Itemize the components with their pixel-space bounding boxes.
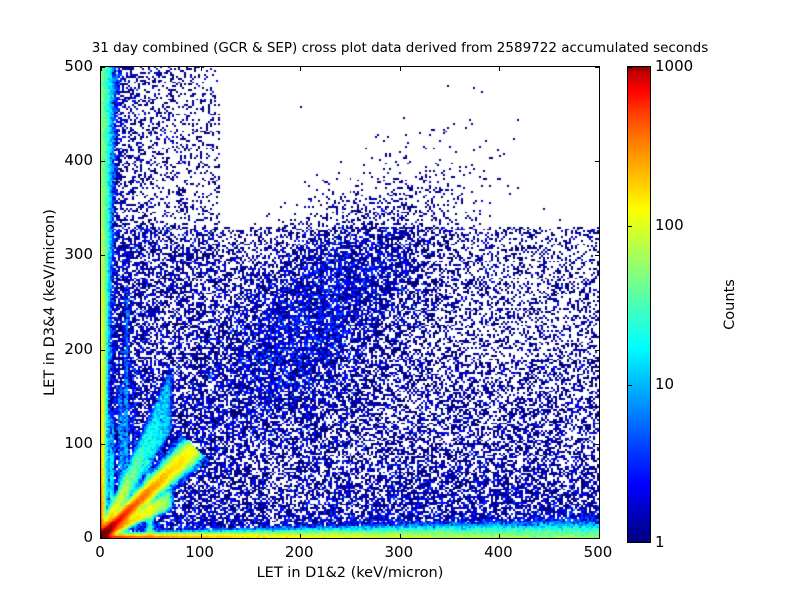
x-tick-mark xyxy=(201,534,202,538)
x-tick-label: 400 xyxy=(484,543,513,561)
x-tick-mark xyxy=(599,534,600,538)
x-tick-label: 200 xyxy=(285,543,314,561)
y-axis-label: LET in D3&4 (keV/micron) xyxy=(42,66,58,539)
colorbar-label: Counts xyxy=(722,66,738,543)
y-tick-mark xyxy=(595,255,599,256)
density-scatter-plot xyxy=(101,67,599,538)
x-tick-mark xyxy=(300,534,301,538)
y-tick-label: 100 xyxy=(64,434,93,452)
y-tick-mark xyxy=(595,538,599,539)
x-tick-mark xyxy=(300,67,301,71)
y-tick-mark xyxy=(595,161,599,162)
y-tick-label: 300 xyxy=(64,245,93,263)
x-axis-label: LET in D1&2 (keV/micron) xyxy=(100,565,600,581)
x-tick-mark xyxy=(599,67,600,71)
colorbar xyxy=(627,66,651,543)
x-tick-mark xyxy=(499,534,500,538)
colorbar-tick-mark xyxy=(627,226,632,227)
y-tick-mark xyxy=(595,350,599,351)
x-tick-mark xyxy=(499,67,500,71)
x-tick-mark xyxy=(400,67,401,71)
x-tick-mark xyxy=(400,534,401,538)
y-tick-label: 500 xyxy=(64,57,93,75)
y-tick-label: 400 xyxy=(64,151,93,169)
x-tick-label: 0 xyxy=(95,543,105,561)
x-tick-label: 300 xyxy=(384,543,413,561)
colorbar-tick-label: 10 xyxy=(655,375,674,393)
x-tick-label: 500 xyxy=(584,543,613,561)
colorbar-tick-label: 1000 xyxy=(655,57,693,75)
colorbar-tick-label: 1 xyxy=(655,533,665,551)
y-tick-mark xyxy=(595,67,599,68)
y-tick-label: 200 xyxy=(64,340,93,358)
colorbar-gradient xyxy=(628,67,650,542)
colorbar-tick-label: 100 xyxy=(655,216,684,234)
x-tick-mark xyxy=(201,67,202,71)
x-tick-label: 100 xyxy=(185,543,214,561)
y-tick-mark xyxy=(101,161,105,162)
y-tick-mark xyxy=(101,538,105,539)
y-tick-mark xyxy=(101,255,105,256)
chart-title-line-1: 31 day combined (GCR & SEP) cross plot d… xyxy=(0,40,800,57)
y-tick-label: 0 xyxy=(83,528,93,546)
y-tick-mark xyxy=(101,67,105,68)
y-tick-mark xyxy=(101,350,105,351)
plot-area xyxy=(100,66,600,539)
figure-canvas: 31 day combined (GCR & SEP) cross plot d… xyxy=(0,0,800,600)
colorbar-tick-mark xyxy=(627,385,632,386)
y-tick-mark xyxy=(101,444,105,445)
colorbar-tick-mark xyxy=(627,67,632,68)
y-tick-mark xyxy=(595,444,599,445)
